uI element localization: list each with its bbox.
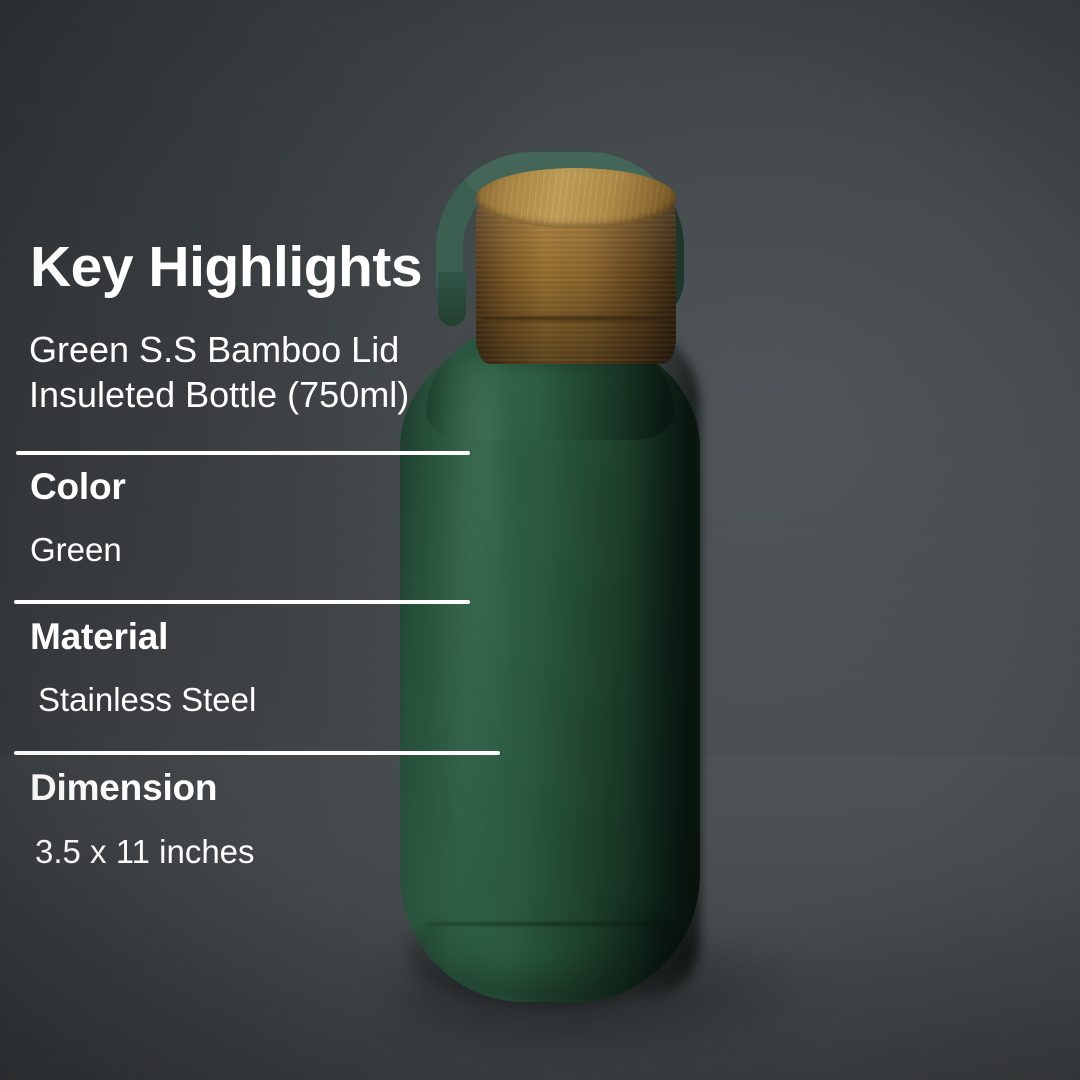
background-vignette (0, 0, 1080, 1080)
product-highlight-card: Key Highlights Green S.S Bamboo Lid Insu… (0, 0, 1080, 1080)
